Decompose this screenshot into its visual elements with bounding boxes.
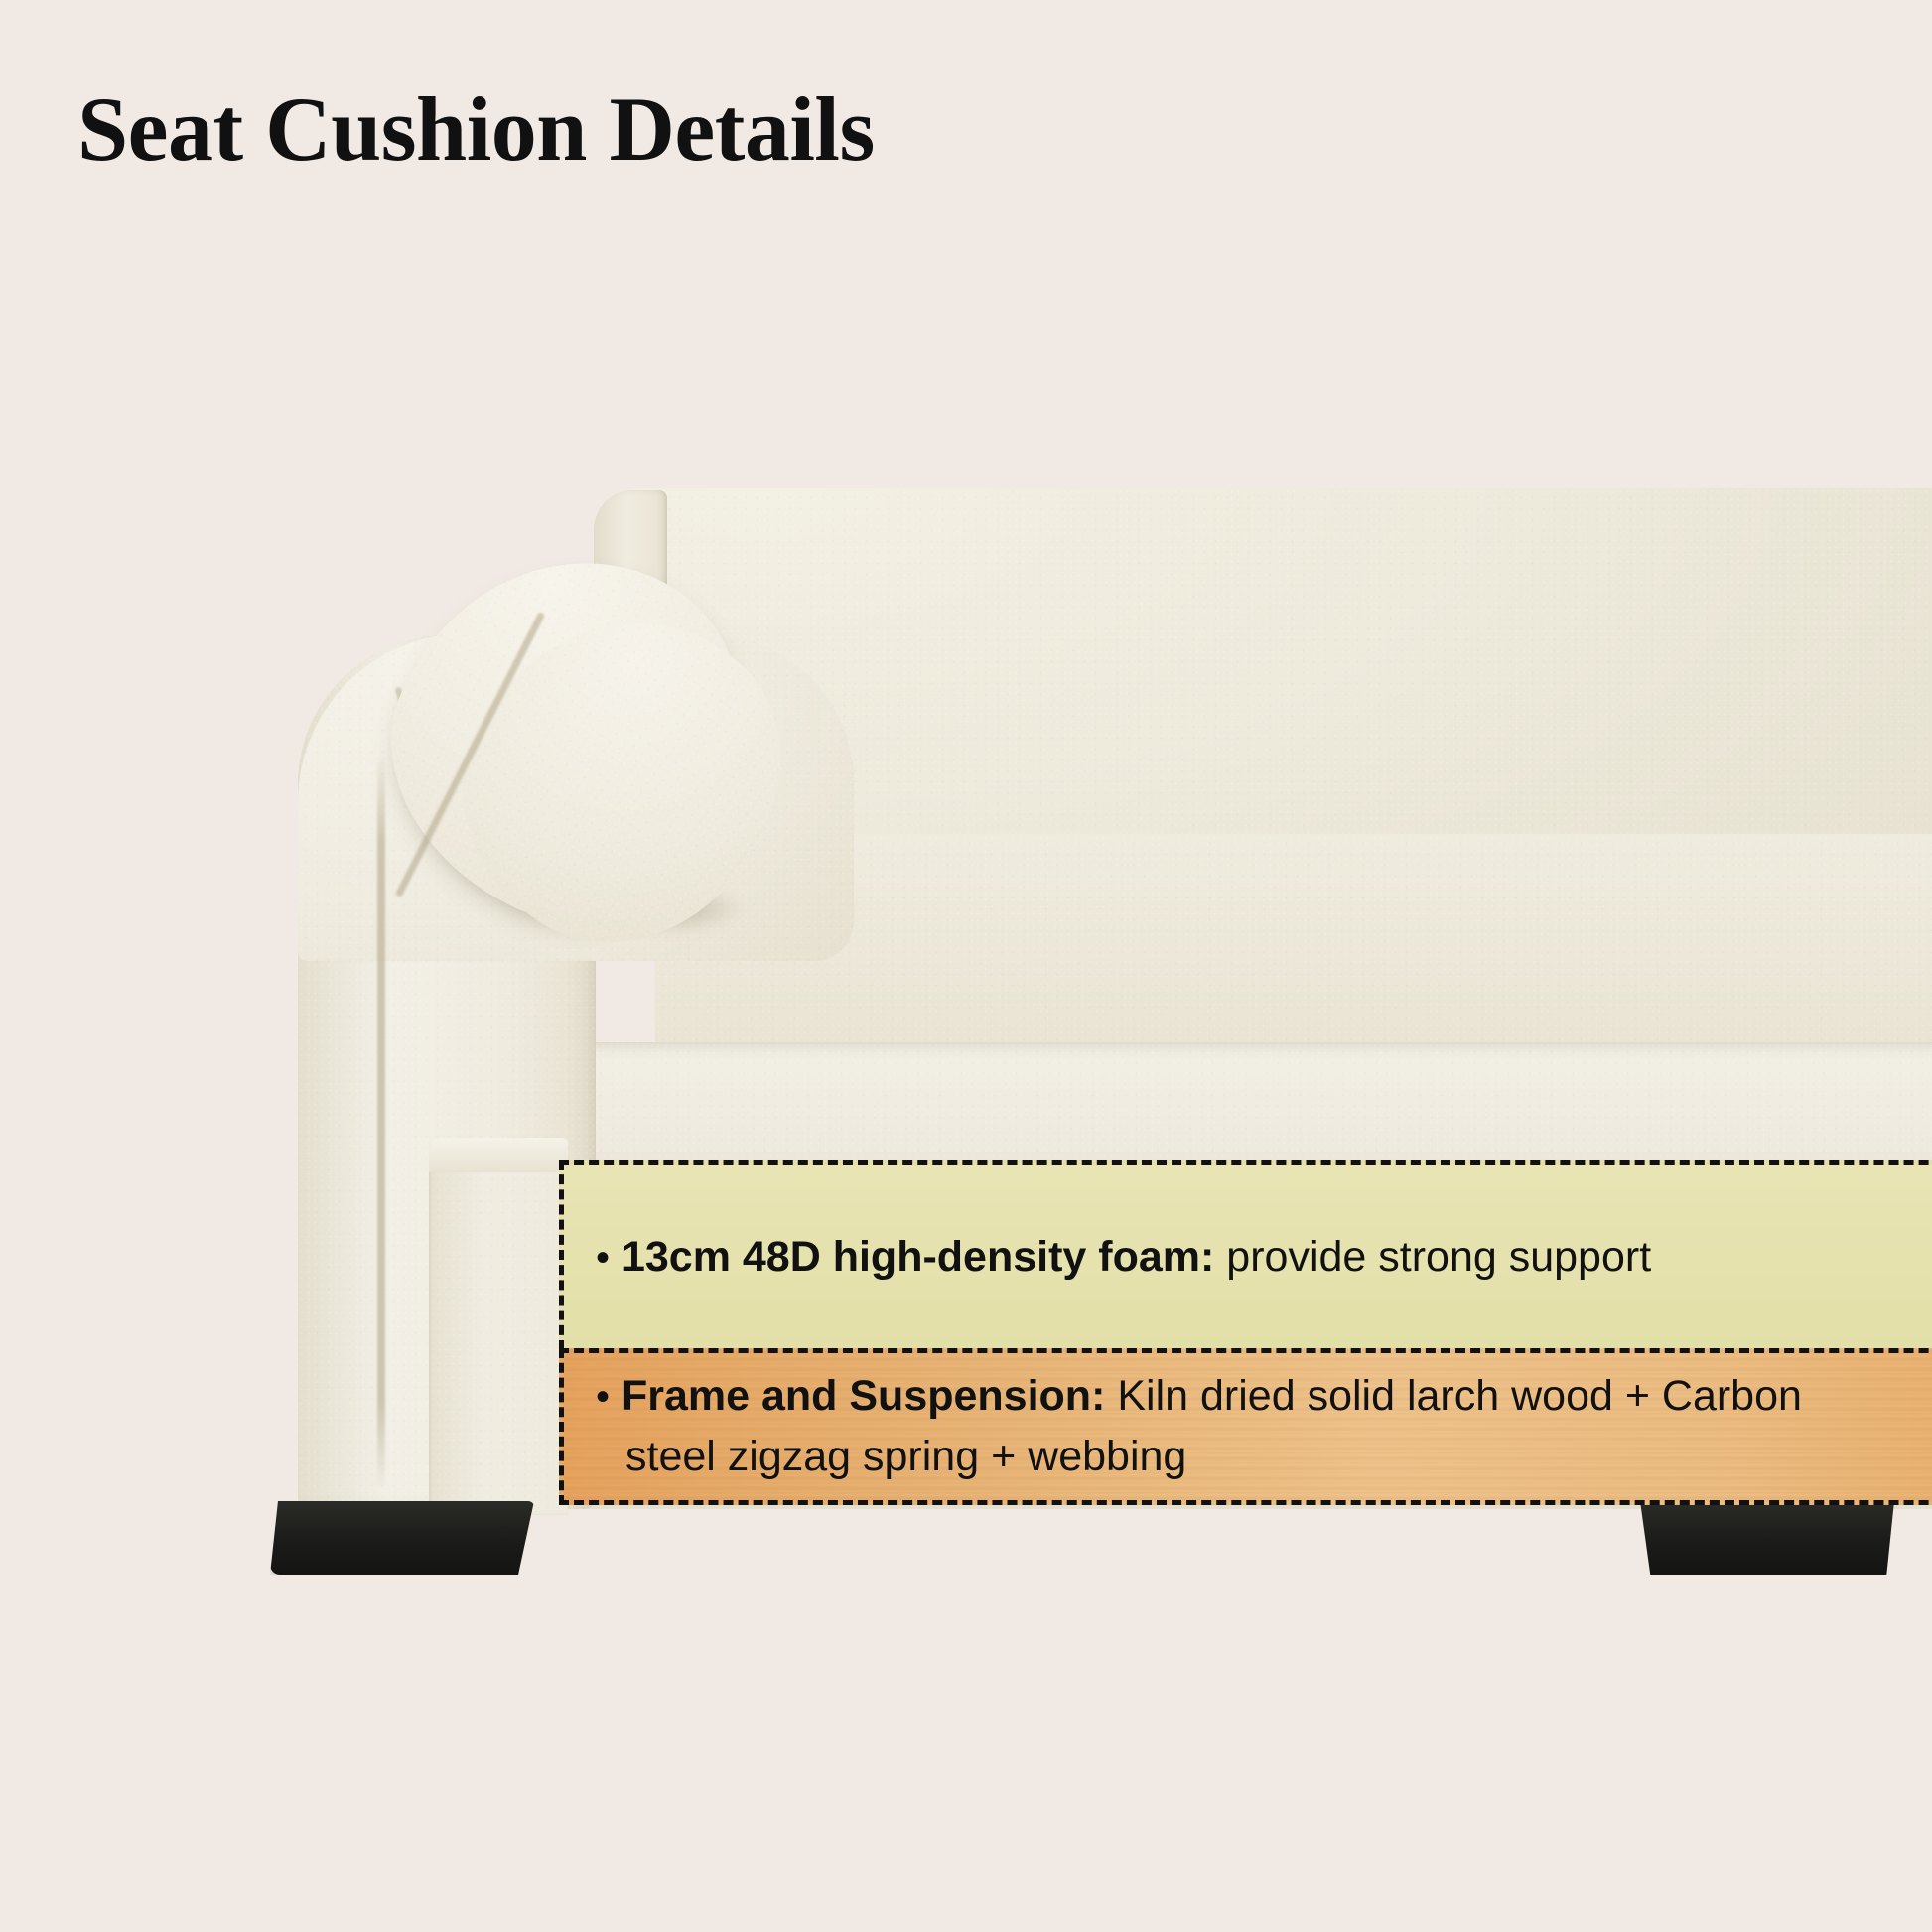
annotation-frame-text: • Frame and Suspension: Kiln dried solid…: [564, 1366, 1845, 1487]
annotation-foam-description: provide strong support: [1214, 1233, 1651, 1281]
sofa-leg-right: [1640, 1501, 1894, 1575]
sofa-front-skirt: [429, 1138, 568, 1515]
sofa-leg-left: [270, 1501, 534, 1575]
bullet-icon: •: [596, 1236, 610, 1280]
sofa-armrest-seam: [377, 755, 385, 1489]
annotation-foam-layer: • 13cm 48D high-density foam: provide st…: [559, 1160, 1932, 1350]
annotation-frame-label: Frame and Suspension:: [621, 1372, 1105, 1420]
annotation-foam-text: • 13cm 48D high-density foam: provide st…: [564, 1227, 1681, 1288]
sofa-front-skirt-lip: [429, 1138, 568, 1172]
sofa-illustration: [0, 0, 1932, 1932]
bullet-icon: •: [596, 1375, 610, 1419]
annotation-frame-layer: • Frame and Suspension: Kiln dried solid…: [559, 1348, 1932, 1505]
annotation-foam-label: 13cm 48D high-density foam:: [621, 1233, 1214, 1281]
